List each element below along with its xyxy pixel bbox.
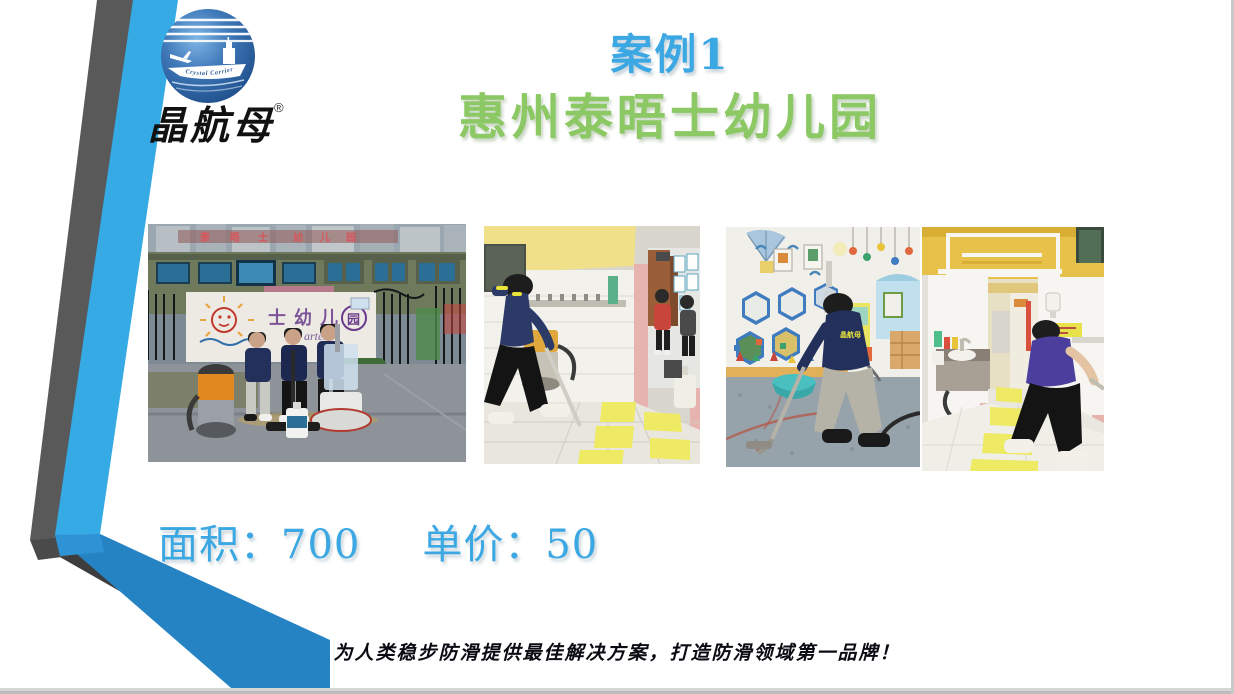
title-block: 案例1 惠州泰晤士幼儿园 (420, 28, 920, 150)
svg-text:幼: 幼 (294, 307, 312, 329)
area-value: 700 (281, 522, 360, 568)
svg-text:园: 园 (347, 313, 360, 328)
project-stats: 面积：700单价：50 (158, 512, 778, 574)
photo-classroom-mopping: 晶航母 (726, 227, 920, 467)
price-value: 50 (545, 522, 598, 568)
crystal-carrier-emblem-icon: Crystal Carrier (158, 6, 258, 106)
svg-text:泰: 泰 (199, 231, 211, 244)
svg-text:儿: 儿 (319, 232, 330, 244)
area-label: 面积： (158, 522, 281, 568)
svg-text:幼: 幼 (293, 231, 303, 244)
svg-text:士: 士 (258, 231, 268, 244)
photo-kindergarten-entrance: 泰晤士 幼儿园 (148, 224, 466, 462)
photo-gallery: 泰晤士 幼儿园 (148, 224, 1108, 474)
svg-text:士: 士 (268, 308, 286, 329)
photo-washroom-treatment (922, 227, 1104, 471)
registered-trademark-icon: ® (274, 100, 284, 115)
price-label: 单价： (422, 522, 545, 568)
slide-canvas: Crystal Carrier 晶航母 ® 案例1 惠州泰晤士幼儿园 (0, 0, 1234, 694)
photo-corridor-treatment (484, 226, 700, 464)
page-title-site-name: 惠州泰晤士幼儿园 (420, 84, 920, 150)
footer-slogan: 为人类稳步防滑提供最佳解决方案，打造防滑领域第一品牌！ (0, 638, 1234, 665)
svg-text:园: 园 (346, 232, 356, 244)
svg-text:晶航母: 晶航母 (840, 330, 861, 339)
page-title-case-number: 案例1 (420, 28, 920, 82)
company-logo: Crystal Carrier 晶航母 ® (148, 4, 298, 164)
svg-text:晤: 晤 (230, 232, 240, 244)
